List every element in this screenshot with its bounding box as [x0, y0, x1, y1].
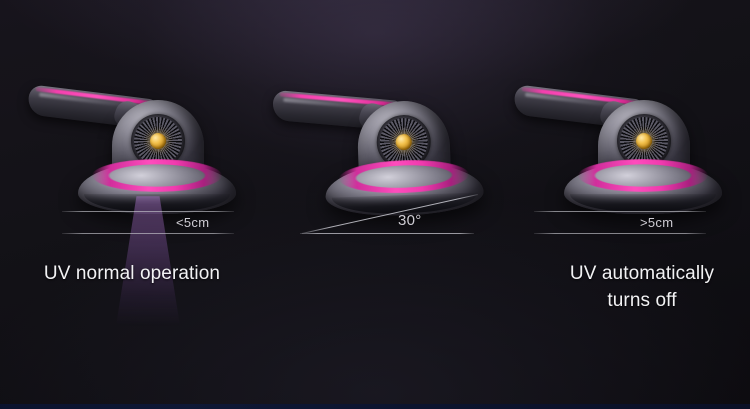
caption-line: UV normal operation: [10, 260, 254, 287]
measurement-label-distance: <5cm: [176, 215, 209, 230]
measurement-label-angle: 30°: [398, 212, 422, 229]
angle-baseline: [300, 233, 474, 234]
device-base: [564, 162, 722, 214]
panel-caption-1: UV normal operation: [10, 260, 254, 287]
guide-line-top: [534, 211, 706, 212]
device-base-accent-ring: [92, 159, 222, 192]
illustration-canvas: <5cm UV normal operation 30° UV automati…: [0, 0, 750, 409]
device-illustration-flat: [26, 78, 236, 218]
guide-line-bottom: [534, 233, 706, 234]
device-illustration-tilted: [270, 76, 485, 223]
panel-uv-normal-operation: <5cm UV normal operation: [0, 0, 264, 409]
guide-line-top: [62, 211, 234, 212]
bottom-edge-strip: [0, 404, 750, 409]
device-base-accent-ring: [578, 159, 708, 192]
device-illustration-lifted: [512, 78, 722, 218]
guide-line-bottom: [62, 233, 234, 234]
measurement-label-distance: >5cm: [640, 215, 673, 230]
golden-hub-icon: [636, 133, 652, 149]
golden-hub-icon: [150, 133, 166, 149]
panel-uv-auto-working: >5cm Lift the machine off the bed surfac…: [492, 0, 750, 409]
panel-uv-auto-off: 30° UV automatically turns off: [264, 0, 492, 409]
